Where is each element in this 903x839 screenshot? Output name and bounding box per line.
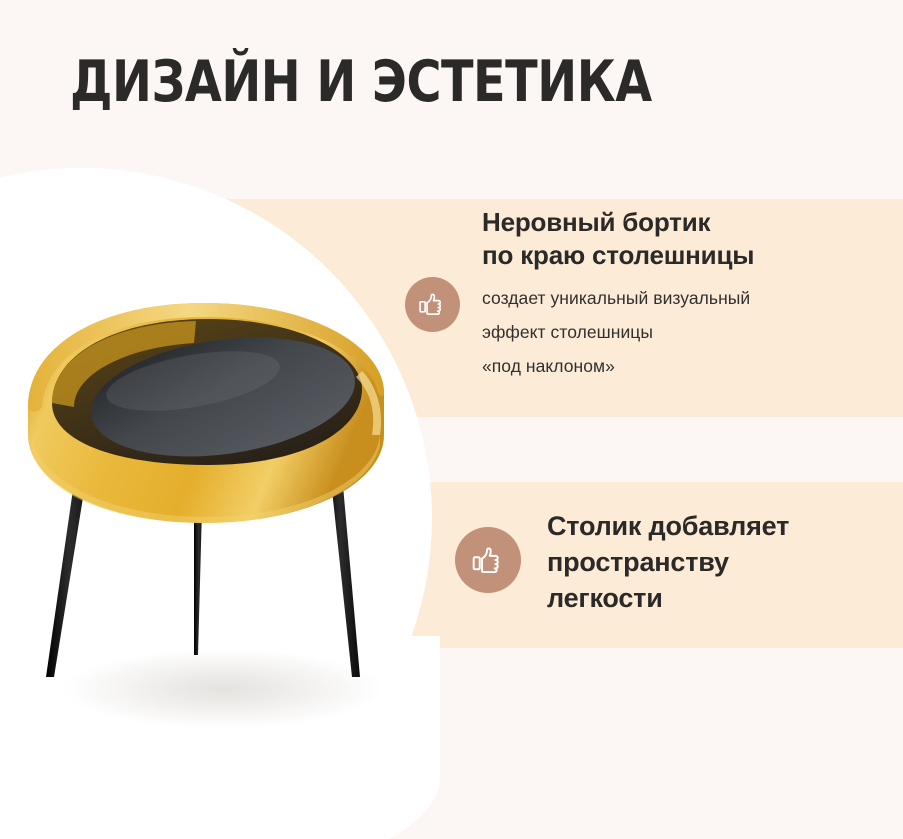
feature-1-body: создает уникальный визуальный эффект сто…	[482, 281, 754, 383]
product-image-gold-side-table	[18, 285, 418, 755]
feature-2-heading-line-1: Столик добавляет	[547, 508, 789, 544]
feature-2-heading-line-3: легкости	[547, 580, 789, 616]
feature-2-text: Столик добавляет пространству легкости	[521, 508, 789, 616]
feature-1-body-line-1: создает уникальный визуальный	[482, 281, 754, 315]
feature-1-body-line-2: эффект столешницы	[482, 315, 754, 349]
thumbs-up-icon	[417, 289, 448, 320]
feature-2-heading: Столик добавляет пространству легкости	[547, 508, 789, 616]
feature-1-body-line-3: «под наклоном»	[482, 349, 754, 383]
feature-1-text: Неровный бортик по краю столешницы созда…	[460, 206, 754, 383]
thumbs-up-badge-1	[405, 277, 460, 332]
page-title: ДИЗАЙН И ЭСТЕТИКА	[70, 51, 652, 113]
feature-2-heading-line-2: пространству	[547, 544, 789, 580]
feature-row-2: Столик добавляет пространству легкости	[455, 508, 885, 616]
feature-1-heading-line-2: по краю столешницы	[482, 239, 754, 272]
feature-1-heading-line-1: Неровный бортик	[482, 206, 754, 239]
thumbs-up-badge-2	[455, 527, 521, 593]
feature-1-heading: Неровный бортик по краю столешницы	[482, 206, 754, 272]
feature-row-1: Неровный бортик по краю столешницы созда…	[405, 206, 885, 383]
thumbs-up-icon	[470, 542, 507, 579]
header-band: ДИЗАЙН И ЭСТЕТИКА	[0, 0, 903, 199]
infographic-page: ДИЗАЙН И ЭСТЕТИКА	[0, 0, 903, 839]
